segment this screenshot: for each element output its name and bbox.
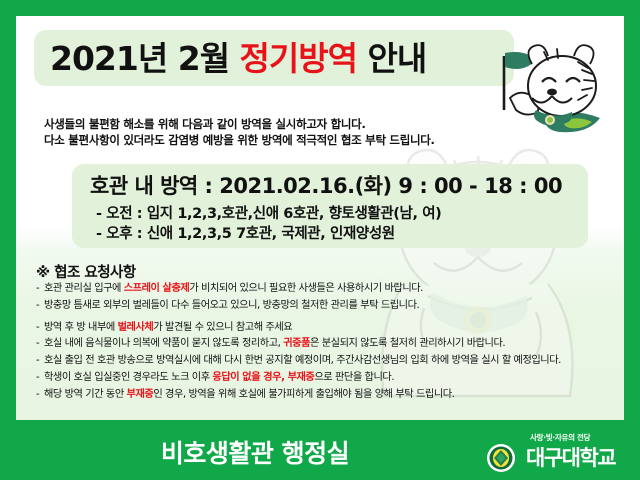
university-brand: 사랑·빛·자유의 전당 대구대학교	[482, 432, 632, 476]
note-text-pre: 방역 후 방 내부에	[44, 322, 118, 333]
poster-body: 2021년 2월 정기방역 안내	[16, 16, 624, 420]
note-text-highlight: 귀중품	[283, 338, 310, 349]
title-highlight: 정기방역	[240, 39, 357, 78]
note-item: 호관 관리실 입구에 스프레이 살충제가 비치되어 있으니 필요한 사생들은 사…	[36, 282, 624, 295]
note-item: 방역 후 방 내부에 벌레사체가 발견될 수 있으니 참고해 주세요	[36, 321, 624, 334]
title-suffix: 안내	[357, 39, 426, 78]
title-month-suffix: 월	[200, 39, 240, 78]
title-year: 2021	[50, 39, 138, 78]
note-text-highlight: 응답이 없을 경우, 부재중	[212, 372, 314, 383]
schedule-heading: 호관 내 방역 : 2021.02.16.(화) 9 : 00 - 18 : 0…	[90, 172, 610, 200]
notes-list: 호관 관리실 입구에 스프레이 살충제가 비치되어 있으니 필요한 사생들은 사…	[36, 282, 624, 405]
notice-poster: 2021년 2월 정기방역 안내	[0, 0, 640, 480]
brand-name: 대구대학교	[526, 442, 615, 472]
note-item: 학생이 호실 입실중인 경우라도 노크 이후 응답이 없을 경우, 부재중으로 …	[36, 371, 624, 384]
title-year-suffix: 년	[138, 39, 178, 78]
note-text-pre: 호관 관리실 입구에	[44, 283, 124, 294]
notes-heading: ※ 협조 요청사항	[36, 261, 136, 282]
note-text-highlight: 스프레이 살충제	[124, 283, 190, 294]
note-text-pre: 호실 출입 전 호관 방송으로 방역실시에 대해 다시 한번 공지할 예정이며,…	[44, 355, 561, 366]
schedule-afternoon: - 오후 : 신애 1,2,3,5 7호관, 국제관, 인재양성원	[96, 224, 616, 244]
note-text-highlight: 부재중	[127, 389, 154, 400]
note-text-pre: 학생이 호실 입실중인 경우라도 노크 이후	[44, 372, 212, 383]
note-item: 호실 출입 전 호관 방송으로 방역실시에 대해 다시 한번 공지할 예정이며,…	[36, 354, 624, 367]
note-text-pre: 호실 내에 음식물이나 의복에 약품이 묻지 않도록 정리하고,	[44, 338, 283, 349]
schedule-morning: - 오전 : 입지 1,2,3,호관,신애 6호관, 향토생활관(남, 여)	[96, 204, 616, 224]
note-text-post: 인 경우, 방역을 위해 호실에 불가피하게 출입해야 됨을 양해 부탁 드립니…	[153, 389, 454, 400]
note-text-post: 가 발견될 수 있으니 참고해 주세요	[153, 322, 292, 333]
note-item: 방충망 틈새로 외부의 벌레들이 다수 들어오고 있으니, 방충망의 철저한 관…	[36, 299, 624, 312]
title-month: 2	[178, 39, 200, 78]
note-text-highlight: 벌레사체	[118, 322, 154, 333]
note-text-pre: 방충망 틈새로 외부의 벌레들이 다수 들어오고 있으니, 방충망의 철저한 관…	[44, 300, 419, 311]
university-seal-icon	[486, 443, 516, 473]
intro-line-1: 사생들의 불편함 해소를 위해 다음과 같이 방역을 실시하고자 합니다.	[44, 116, 604, 132]
intro-line-2: 다소 불편사항이 있더라도 감염병 예방을 위한 방역에 적극적인 협조 부탁 …	[44, 132, 604, 148]
note-text-post: 으로 판단을 합니다.	[314, 372, 394, 383]
page-title: 2021년 2월 정기방역 안내	[50, 34, 520, 84]
note-text-post: 은 분실되지 않도록 철저히 관리하시기 바랍니다.	[310, 338, 505, 349]
intro-paragraph: 사생들의 불편함 해소를 위해 다음과 같이 방역을 실시하고자 합니다. 다소…	[44, 116, 604, 148]
note-text-pre: 해당 방역 기간 동안	[44, 389, 127, 400]
note-text-post: 가 비치되어 있으니 필요한 사생들은 사용하시기 바랍니다.	[189, 283, 423, 294]
note-item: 호실 내에 음식물이나 의복에 약품이 묻지 않도록 정리하고, 귀중품은 분실…	[36, 337, 624, 350]
note-item: 해당 방역 기간 동안 부재중인 경우, 방역을 위해 호실에 불가피하게 출입…	[36, 388, 624, 401]
